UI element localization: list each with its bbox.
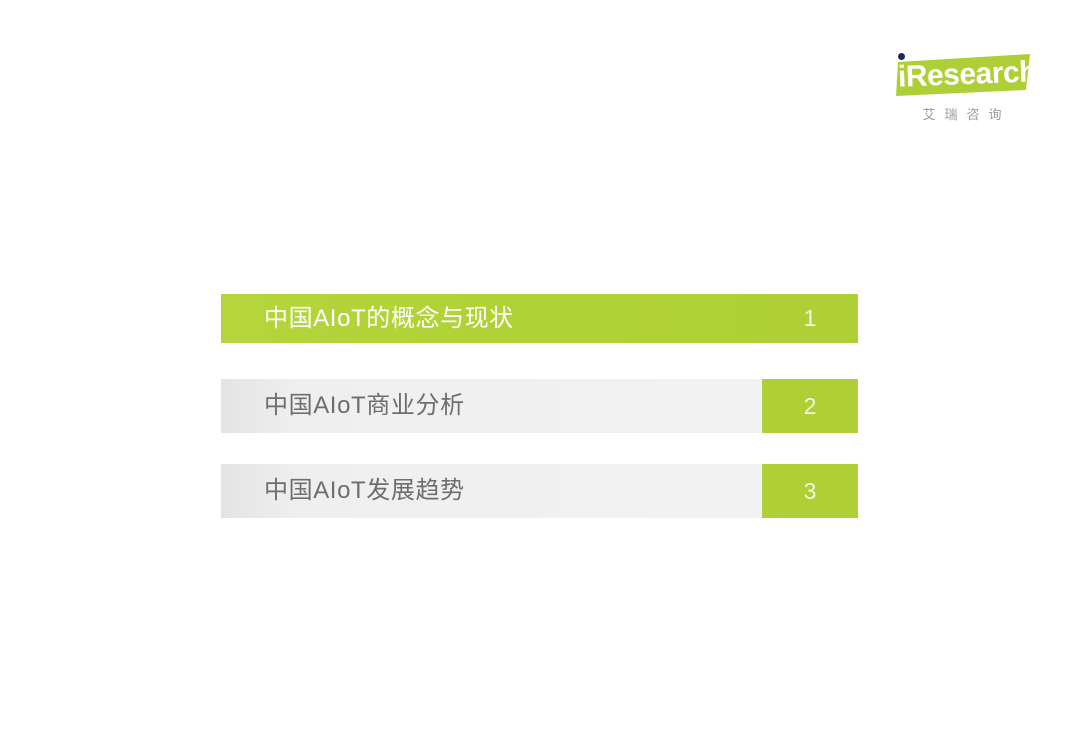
agenda-item-3[interactable]: 中国AIoT发展趋势 3 [221, 464, 858, 518]
agenda-item-2[interactable]: 中国AIoT商业分析 2 [221, 379, 858, 433]
agenda-slide: iResearch 艾瑞咨询 中国AIoT的概念与现状 1 中国AIoT商业分析… [0, 0, 1080, 739]
logo-wordmark: iResearch [898, 56, 1030, 94]
logo-subtitle: 艾瑞咨询 [894, 104, 1030, 123]
agenda-item-3-label: 中国AIoT发展趋势 [264, 464, 465, 518]
agenda-item-1-label: 中国AIoT的概念与现状 [264, 294, 514, 343]
logo-mark: iResearch [884, 48, 1034, 100]
agenda-list: 中国AIoT的概念与现状 1 中国AIoT商业分析 2 中国AIoT发展趋势 3 [221, 294, 858, 518]
logo-wordmark-text: iResearch [897, 57, 1037, 92]
agenda-item-2-number: 2 [762, 379, 858, 433]
iresearch-logo: iResearch 艾瑞咨询 [884, 48, 1034, 130]
agenda-item-1-number: 1 [762, 294, 858, 343]
logo-i-dot-icon [898, 53, 905, 60]
agenda-item-1[interactable]: 中国AIoT的概念与现状 1 [221, 294, 858, 343]
agenda-item-2-label: 中国AIoT商业分析 [264, 379, 465, 433]
agenda-item-3-number: 3 [762, 464, 858, 518]
